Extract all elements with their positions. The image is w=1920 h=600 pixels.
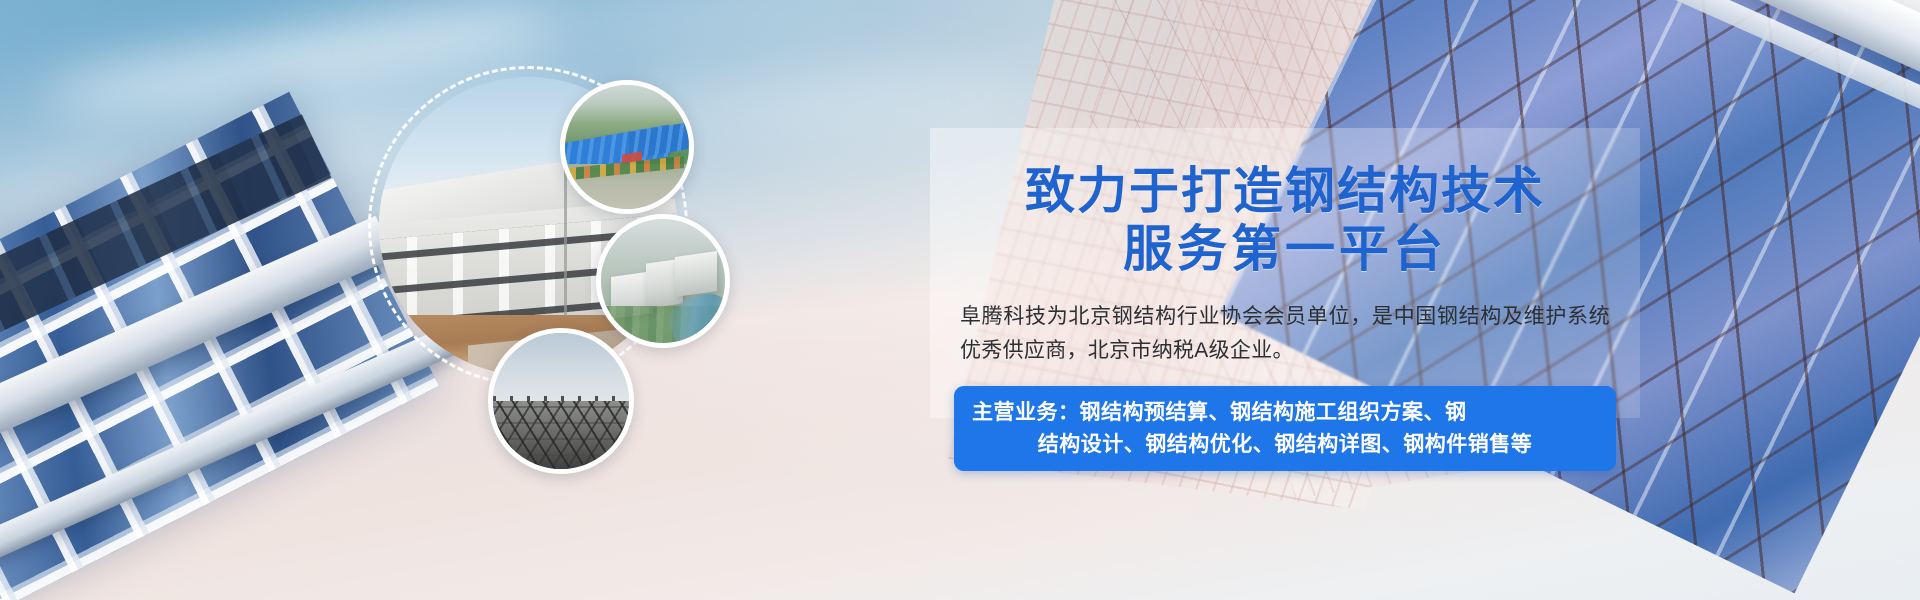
circle-photo-office-campus <box>596 214 730 348</box>
banner-headline: 致力于打造钢结构技术 服务第一平台 <box>930 162 1640 278</box>
space-frame-truss <box>488 401 634 472</box>
banner-content: 致力于打造钢结构技术 服务第一平台 阜腾科技为北京钢结构行业协会会员单位，是中国… <box>930 128 1640 471</box>
badge-line-2: 结构设计、钢结构优化、钢结构详图、钢构件销售等 <box>972 429 1598 461</box>
photo-collage <box>360 48 780 478</box>
badge-line-1: 主营业务：钢结构预结算、钢结构施工组织方案、钢 <box>972 401 1467 424</box>
description-line-1: 阜腾科技为北京钢结构行业协会会员单位，是中国钢结构及维 <box>960 305 1545 328</box>
circle-photo-blue-roof-factory <box>560 80 694 214</box>
campus-building <box>675 251 717 297</box>
business-scope-badge: 主营业务：钢结构预结算、钢结构施工组织方案、钢 结构设计、钢结构优化、钢结构详图… <box>954 386 1616 471</box>
headline-line-2: 服务第一平台 <box>930 220 1640 278</box>
hero-banner: 致力于打造钢结构技术 服务第一平台 阜腾科技为北京钢结构行业协会会员单位，是中国… <box>0 0 1920 600</box>
banner-description: 阜腾科技为北京钢结构行业协会会员单位，是中国钢结构及维护系统优秀供应商，北京市纳… <box>960 300 1610 368</box>
circle-photo-steel-truss <box>488 328 634 474</box>
headline-line-1: 致力于打造钢结构技术 <box>1025 161 1545 220</box>
